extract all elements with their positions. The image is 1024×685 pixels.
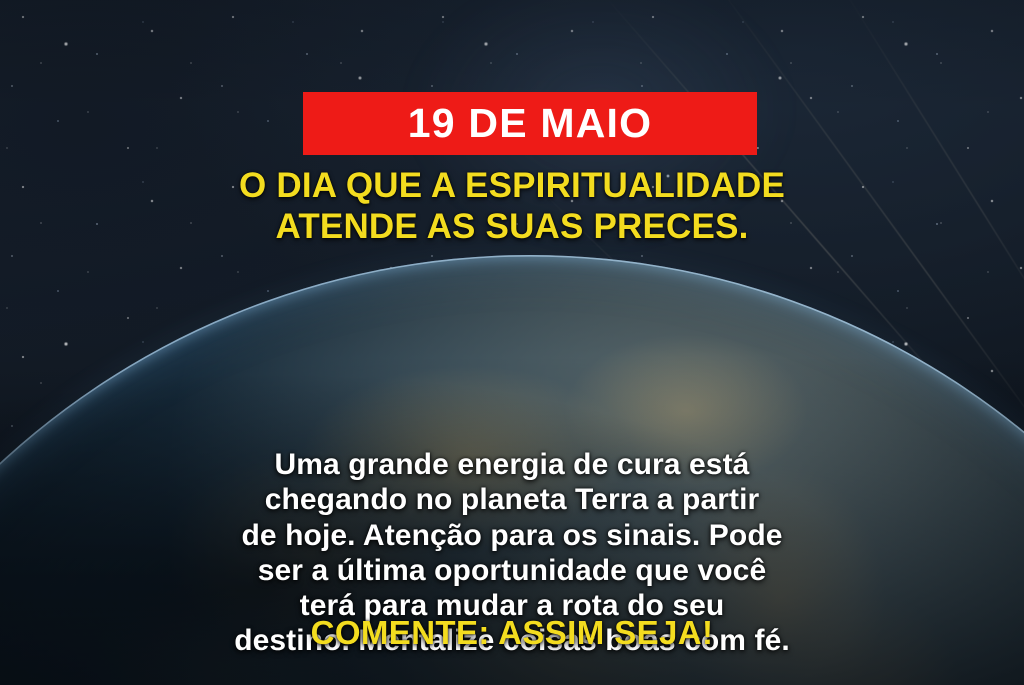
call-to-action-label: COMENTE: ASSIM SEJA! bbox=[311, 614, 714, 651]
headline-line-1: O DIA QUE A ESPIRITUALIDADE bbox=[0, 166, 1024, 207]
poster-canvas: 19 DE MAIO O DIA QUE A ESPIRITUALIDADE A… bbox=[0, 0, 1024, 685]
headline-line-2: ATENDE AS SUAS PRECES. bbox=[0, 207, 1024, 248]
headline: O DIA QUE A ESPIRITUALIDADE ATENDE AS SU… bbox=[0, 166, 1024, 248]
poster-content: 19 DE MAIO O DIA QUE A ESPIRITUALIDADE A… bbox=[0, 0, 1024, 685]
body-line-4: ser a última oportunidade que você bbox=[0, 553, 1024, 588]
call-to-action: COMENTE: ASSIM SEJA! bbox=[0, 614, 1024, 652]
date-banner: 19 DE MAIO bbox=[303, 92, 757, 155]
body-line-2: chegando no planeta Terra a partir bbox=[0, 482, 1024, 517]
body-line-3: de hoje. Atenção para os sinais. Pode bbox=[0, 518, 1024, 553]
body-line-1: Uma grande energia de cura está bbox=[0, 447, 1024, 482]
date-banner-label: 19 DE MAIO bbox=[408, 103, 652, 144]
